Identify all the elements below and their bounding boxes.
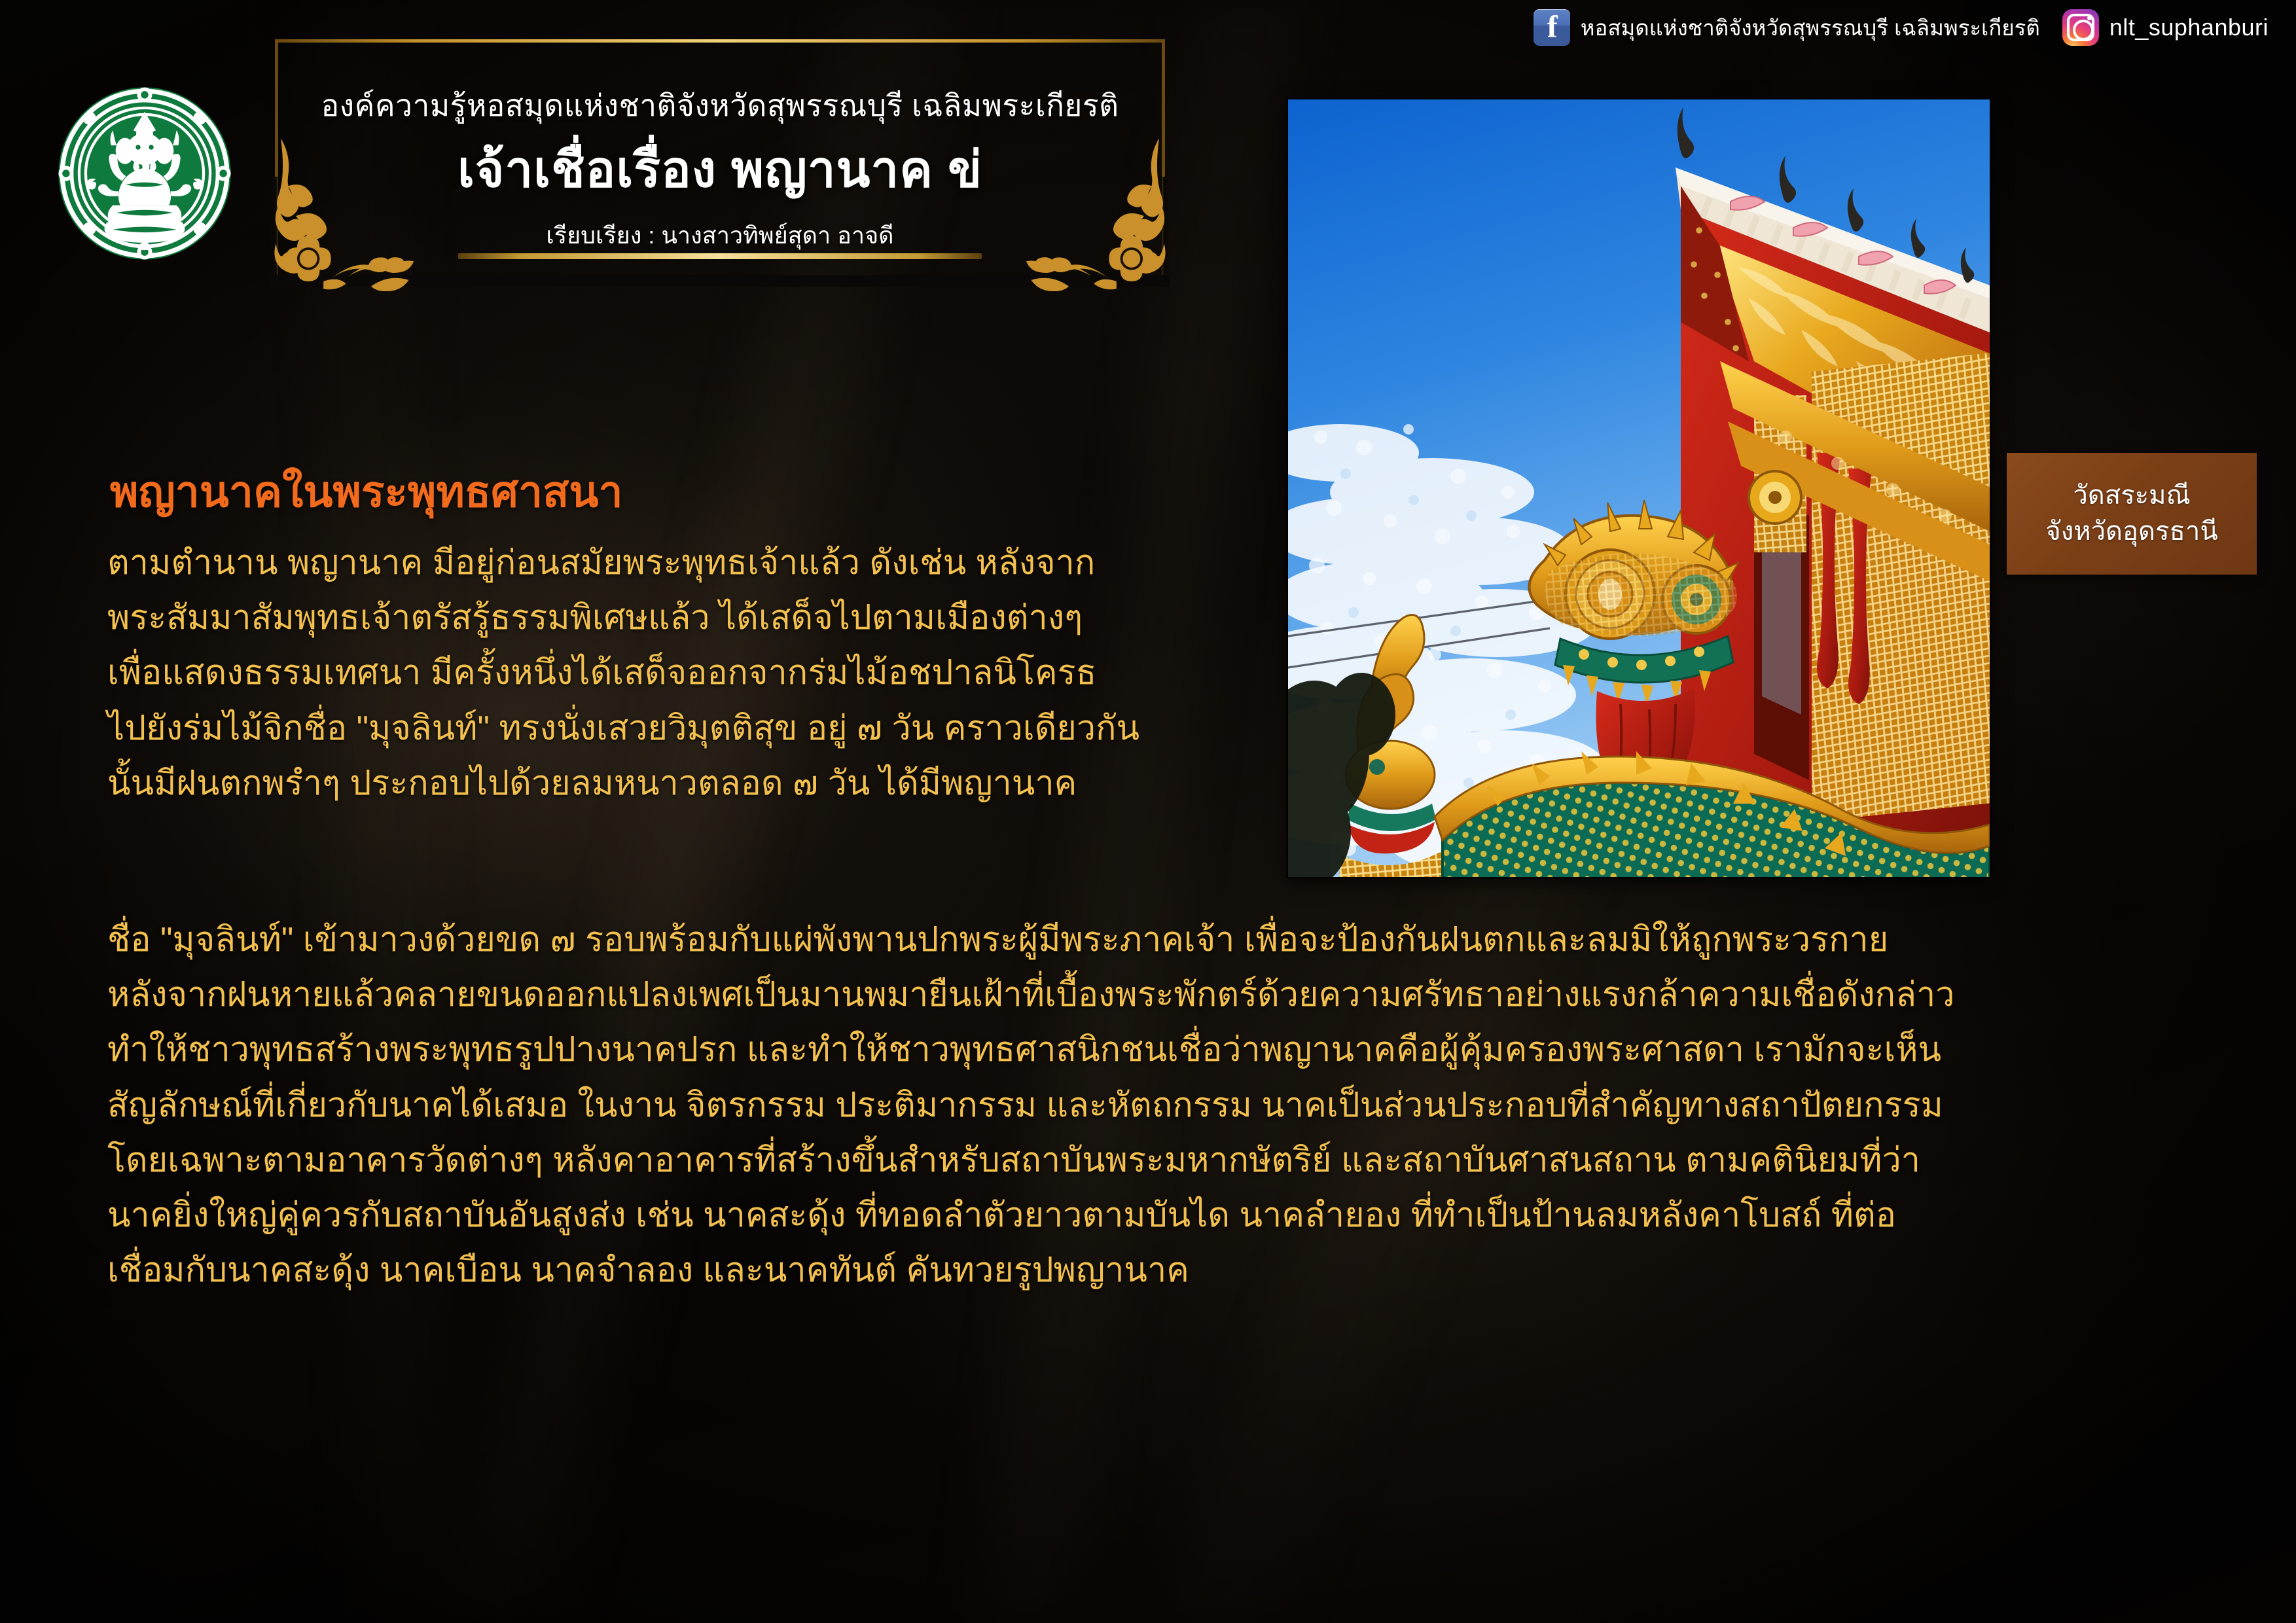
column-line: พระสัมมาสัมพุทธเจ้าตรัสรู้ธรรมพิเศษแล้ว … — [107, 590, 1259, 645]
column-line: ไปยังร่มไม้จิกชื่อ "มุจลินท์" ทรงนั่งเสว… — [107, 701, 1259, 756]
instagram-icon-frame — [2067, 14, 2094, 41]
thai-kranok-corner-left — [266, 128, 416, 292]
photo-caption-box: วัดสระมณี จังหวัดอุดรธานี — [2007, 453, 2257, 575]
column-line: นั้นมีฝนตกพรำๆ ประกอบไปด้วยลมหนาวตลอด ๗ … — [107, 756, 1259, 811]
facebook-icon[interactable] — [1534, 9, 1570, 46]
gold-divider-rule — [458, 253, 982, 259]
column-line: เพื่อแสดงธรรมเทศนา มีครั้งหนึ่งได้เสด็จอ… — [107, 645, 1259, 700]
caption-temple-name: วัดสระมณี — [2073, 480, 2190, 512]
thai-kranok-corner-right — [1024, 128, 1174, 292]
ganesha-emblem — [51, 80, 238, 267]
column-line: ตามตำนาน พญานาค มีอยู่ก่อนสมัยพระพุทธเจ้… — [107, 535, 1259, 590]
header-frame: องค์ความรู้หอสมุดแห่งชาติจังหวัดสุพรรณบุ… — [275, 39, 1165, 281]
social-bar: หอสมุดแห่งชาติจังหวัดสุพรรณบุรี เฉลิมพระ… — [1534, 9, 2269, 46]
article-full-paragraph: ชื่อ "มุจลินท์" เข้ามาวงด้วยขด ๗ รอบพร้อ… — [107, 912, 2199, 1298]
caption-province: จังหวัดอุดรธานี — [2045, 516, 2217, 548]
naga-temple-photo — [1288, 99, 1990, 877]
facebook-label: หอสมุดแห่งชาติจังหวัดสุพรรณบุรี เฉลิมพระ… — [1581, 17, 2040, 39]
article-column-paragraph: ตามตำนาน พญานาค มีอยู่ก่อนสมัยพระพุทธเจ้… — [107, 535, 1259, 811]
full-line: สัญลักษณ์ที่เกี่ยวกับนาคได้เสมอ ในงาน จิ… — [107, 1078, 2199, 1133]
instagram-icon[interactable] — [2062, 9, 2099, 46]
full-line: นาคยิ่งใหญ่คู่ควรกับสถาบันอันสูงส่ง เช่น… — [107, 1188, 2199, 1243]
header-kicker: องค์ความรู้หอสมุดแห่งชาติจังหวัดสุพรรณบุ… — [275, 90, 1165, 120]
instagram-link[interactable]: nlt_suphanburi — [2062, 9, 2269, 46]
full-line: ชื่อ "มุจลินท์" เข้ามาวงด้วยขด ๗ รอบพร้อ… — [107, 912, 2199, 967]
article-heading: พญานาคในพระพุทธศาสนา — [110, 470, 623, 513]
full-line: หลังจากฝนหายแล้วคลายขนดออกแปลงเพศเป็นมาน… — [107, 967, 2199, 1022]
full-line: เชื่อมกับนาคสะดุ้ง นาคเบือน นาคจำลอง และ… — [107, 1243, 2199, 1298]
full-line: ทำให้ชาวพุทธสร้างพระพุทธรูปปางนาคปรก และ… — [107, 1022, 2199, 1077]
full-line: โดยเฉพาะตามอาคารวัดต่างๆ หลังคาอาคารที่ส… — [107, 1133, 2199, 1188]
facebook-link[interactable]: หอสมุดแห่งชาติจังหวัดสุพรรณบุรี เฉลิมพระ… — [1534, 9, 2040, 46]
instagram-label: nlt_suphanburi — [2109, 16, 2269, 39]
poster-canvas: หอสมุดแห่งชาติจังหวัดสุพรรณบุรี เฉลิมพระ… — [0, 0, 2296, 1623]
